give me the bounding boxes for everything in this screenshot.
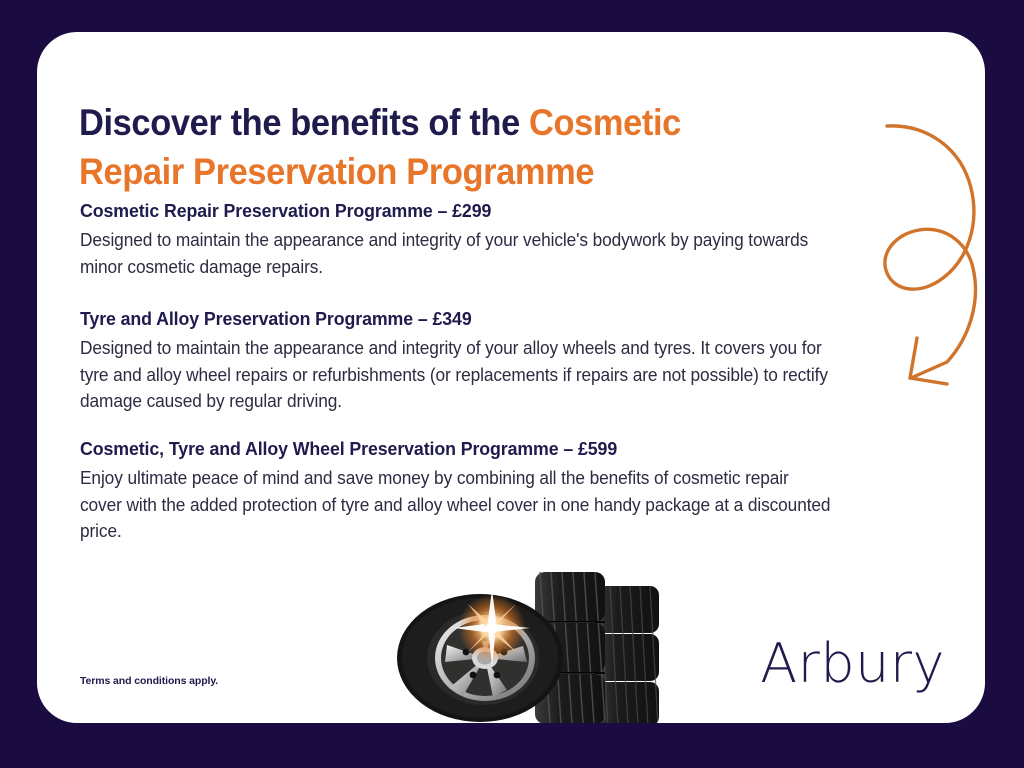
stacked-tyres-with-alloy-wheel-image: [367, 550, 677, 723]
page-title: Discover the benefits of the Cosmetic Re…: [79, 99, 786, 197]
programme-section: Tyre and Alloy Preservation Programme – …: [80, 307, 834, 414]
content-card: Discover the benefits of the Cosmetic Re…: [37, 32, 985, 723]
page-title-accent-line1: Cosmetic: [529, 102, 681, 143]
programme-section: Cosmetic Repair Preservation Programme –…: [80, 199, 834, 280]
programme-section: Cosmetic, Tyre and Alloy Wheel Preservat…: [80, 437, 834, 544]
programme-title: Cosmetic, Tyre and Alloy Wheel Preservat…: [80, 437, 834, 460]
curved-loop-arrow-icon: [875, 110, 985, 400]
programme-title: Tyre and Alloy Preservation Programme – …: [80, 307, 834, 330]
programme-description: Designed to maintain the appearance and …: [80, 227, 834, 280]
programme-description: Designed to maintain the appearance and …: [80, 335, 834, 414]
brand-logo: Arbury: [760, 632, 945, 695]
programme-title: Cosmetic Repair Preservation Programme –…: [80, 199, 834, 222]
terms-and-conditions-note: Terms and conditions apply.: [80, 675, 218, 687]
page-title-accent-line2: Repair Preservation Programme: [79, 151, 594, 192]
programme-description: Enjoy ultimate peace of mind and save mo…: [80, 465, 834, 544]
page-title-primary: Discover the benefits of the: [79, 102, 529, 143]
promotional-banner: Discover the benefits of the Cosmetic Re…: [0, 0, 1024, 768]
